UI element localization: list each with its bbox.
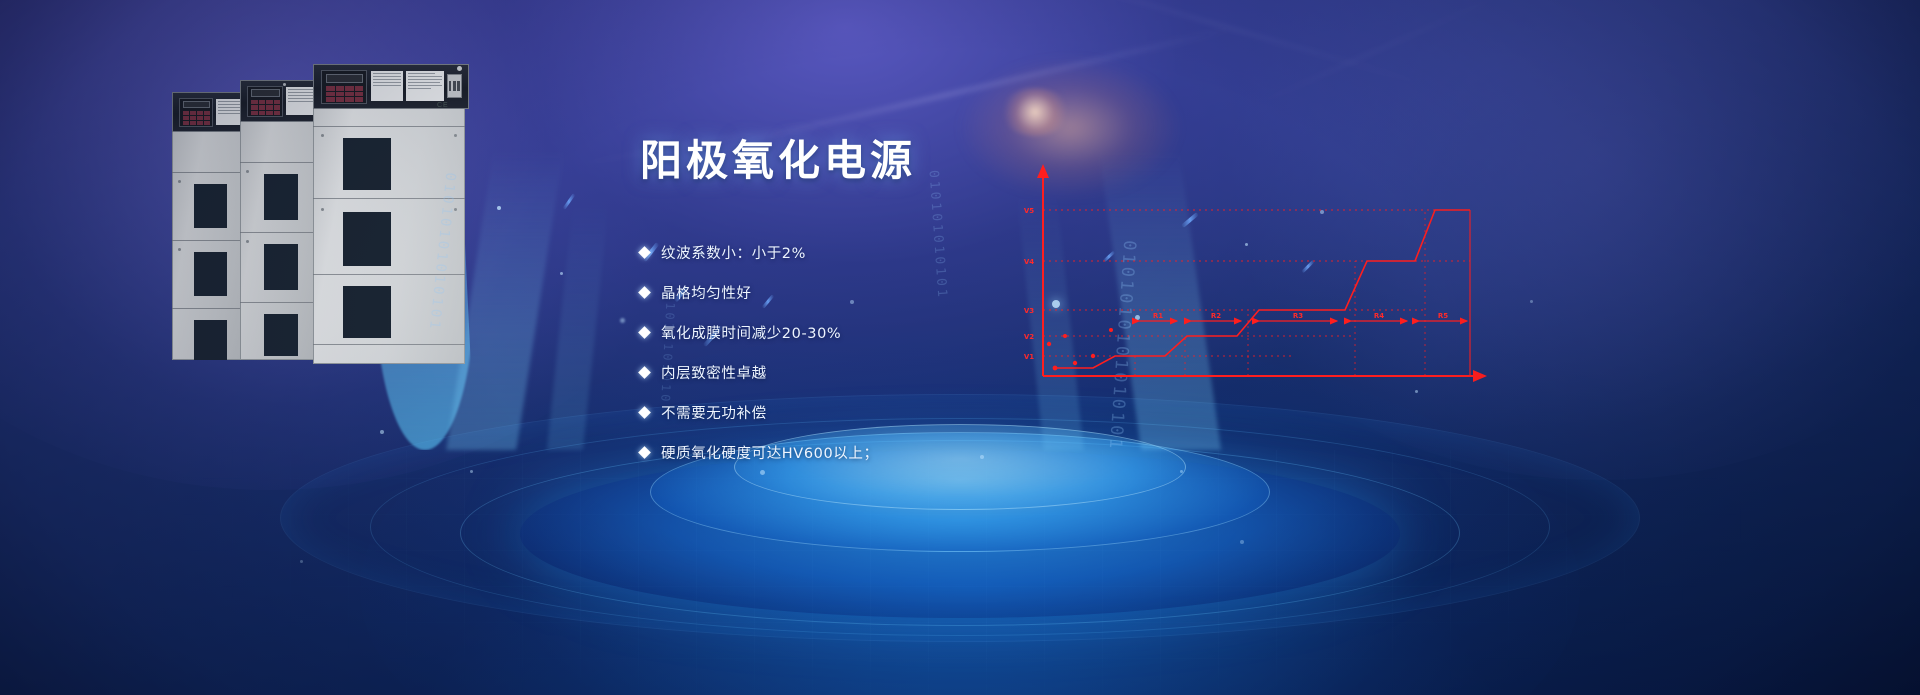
keypad	[183, 111, 210, 125]
floor-grid	[0, 450, 1920, 695]
vent-panel	[194, 184, 227, 228]
lcd-display	[326, 74, 363, 83]
label-plate	[371, 71, 403, 101]
light-beam	[547, 200, 609, 450]
spec-plate	[406, 71, 444, 101]
control-screen	[179, 98, 213, 127]
list-item: 硬质氧化硬度可达HV600以上；	[640, 432, 1100, 472]
keypad	[251, 100, 280, 115]
diamond-bullet-icon	[638, 286, 651, 299]
lcd-display	[183, 101, 210, 108]
x-tick-r4: R4	[1374, 312, 1384, 320]
feature-text: 内层致密性卓越	[661, 362, 767, 383]
breaker-switch	[447, 74, 462, 98]
content-block: 阳极氧化电源 纹波系数小：小于2% 晶格均匀性好 氧化成膜时间减少20-30% …	[640, 140, 1100, 472]
list-item: 不需要无功补偿	[640, 392, 1100, 432]
list-item: 纹波系数小：小于2%	[640, 232, 1100, 272]
diamond-bullet-icon	[638, 326, 651, 339]
cabinet-right: CE	[313, 82, 465, 364]
diamond-bullet-icon	[638, 366, 651, 379]
diamond-bullet-icon	[638, 246, 651, 259]
step-curve	[1055, 210, 1470, 368]
feature-text: 硬质氧化硬度可达HV600以上；	[661, 442, 879, 463]
control-screen	[321, 70, 367, 104]
feature-list: 纹波系数小：小于2% 晶格均匀性好 氧化成膜时间减少20-30% 内层致密性卓越…	[640, 232, 1100, 472]
feature-text: 纹波系数小：小于2%	[661, 242, 806, 263]
feature-text: 氧化成膜时间减少20-30%	[661, 322, 841, 343]
x-tick-r2: R2	[1211, 312, 1221, 320]
x-tick-r3: R3	[1293, 312, 1303, 320]
keypad	[326, 86, 363, 102]
list-item: 氧化成膜时间减少20-30%	[640, 312, 1100, 352]
equipment-cabinets: CE	[168, 82, 488, 382]
vent-panel	[194, 252, 227, 296]
data-point	[1109, 328, 1113, 332]
control-screen	[247, 86, 283, 117]
banner-stage: CE 01010101010101 010101010101 010101010…	[0, 0, 1920, 695]
lens-flare-core	[1000, 88, 1070, 136]
feature-text: 晶格均匀性好	[661, 282, 752, 303]
vent-panel	[264, 244, 298, 290]
cabinet-brand-mark: CE	[437, 102, 449, 109]
list-item: 晶格均匀性好	[640, 272, 1100, 312]
vent-panel	[194, 320, 227, 360]
light-streak	[1243, 0, 1518, 111]
diamond-bullet-icon	[638, 406, 651, 419]
list-item: 内层致密性卓越	[640, 352, 1100, 392]
x-tick-r1: R1	[1153, 312, 1163, 320]
podium-disc-base	[520, 450, 1400, 618]
feature-text: 不需要无功补偿	[661, 402, 767, 423]
lcd-display	[251, 89, 280, 97]
vent-panel	[264, 314, 298, 356]
vent-panel	[264, 174, 298, 220]
vent-panel	[343, 138, 391, 190]
page-title: 阳极氧化电源	[640, 140, 1100, 182]
vent-panel	[343, 212, 391, 266]
diamond-bullet-icon	[638, 446, 651, 459]
light-streak	[1038, 0, 1442, 90]
light-streak	[707, 27, 1234, 151]
vent-panel	[343, 286, 391, 338]
x-tick-r5: R5	[1438, 312, 1448, 320]
